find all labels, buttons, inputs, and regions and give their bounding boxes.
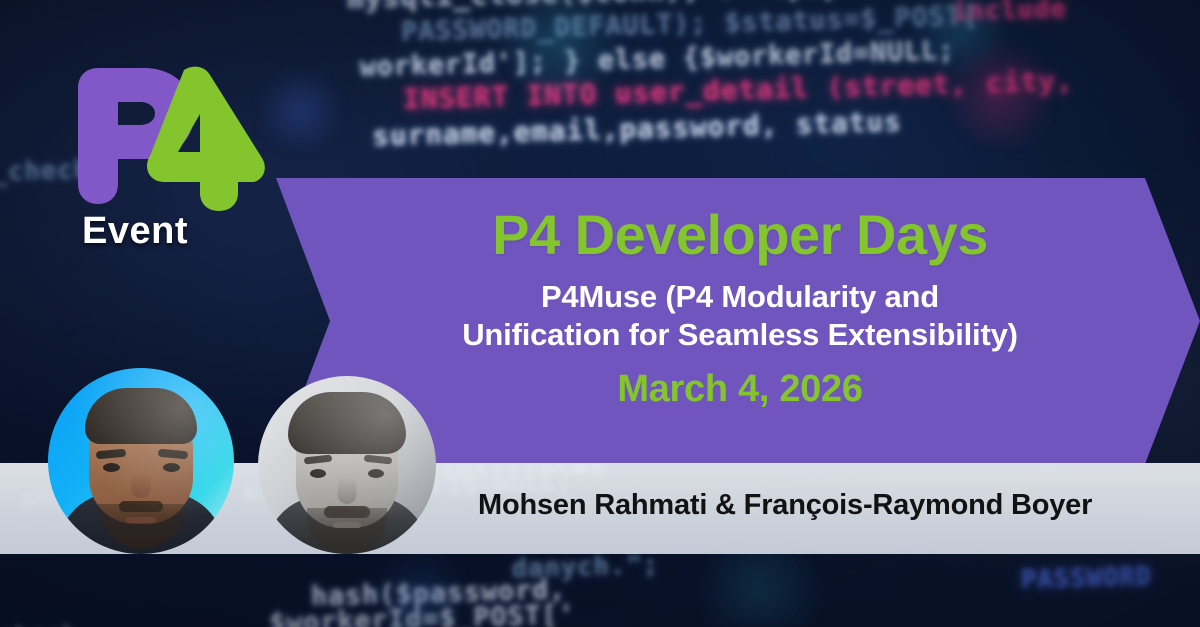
avatar-speaker-2 — [258, 376, 436, 554]
event-banner: mysqli_close($conn); ?><?php PASSWORD_DE… — [0, 0, 1200, 627]
event-date: March 4, 2026 — [617, 368, 862, 411]
avatar-2-highlight — [258, 376, 436, 554]
avatar-1-highlight — [48, 368, 234, 554]
logo-caption-event: Event — [82, 210, 188, 253]
event-subtitle-line-2: Unification for Seamless Extensibility) — [462, 316, 1018, 354]
p4-logo-mark — [72, 62, 272, 212]
event-subtitle: P4Muse (P4 Modularity and Unification fo… — [462, 278, 1018, 354]
p4-logo: Event — [72, 62, 272, 267]
avatar-speaker-1 — [48, 368, 234, 554]
speaker-names: Mohsen Rahmati & François-Raymond Boyer — [478, 489, 1178, 522]
event-subtitle-line-1: P4Muse (P4 Modularity and — [462, 278, 1018, 316]
event-title: P4 Developer Days — [492, 206, 988, 264]
